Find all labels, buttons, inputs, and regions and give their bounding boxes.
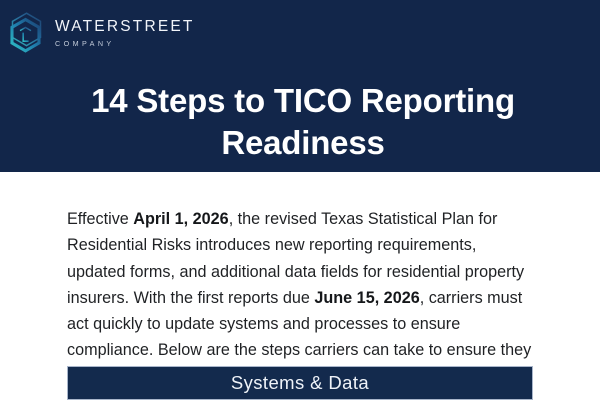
brand-wordmark: WATERSTREET COMPANY <box>55 16 195 50</box>
brand-lockup: WATERSTREET COMPANY <box>6 10 195 56</box>
paragraph-part-1: Effective <box>67 210 133 228</box>
due-date-emphasis: June 15, 2026 <box>314 289 419 307</box>
section-banner-systems-and-data: Systems & Data <box>67 366 533 400</box>
section-banner-label: Systems & Data <box>231 374 369 393</box>
header-banner: WATERSTREET COMPANY 14 Steps to TICO Rep… <box>0 0 600 172</box>
page-title: 14 Steps to TICO Reporting Readiness <box>60 80 546 164</box>
page-title-line-2: Readiness <box>221 124 384 161</box>
effective-date-emphasis: April 1, 2026 <box>133 210 228 228</box>
content-area: Effective April 1, 2026, the revised Tex… <box>0 172 600 403</box>
waterstreet-hexagon-logo-icon <box>6 10 46 56</box>
page-title-line-1: 14 Steps to TICO Reporting <box>91 82 515 119</box>
slide-root: WATERSTREET COMPANY 14 Steps to TICO Rep… <box>0 0 600 403</box>
brand-name: WATERSTREET <box>55 19 195 35</box>
brand-tagline: COMPANY <box>55 38 195 50</box>
intro-paragraph: Effective April 1, 2026, the revised Tex… <box>67 206 537 390</box>
